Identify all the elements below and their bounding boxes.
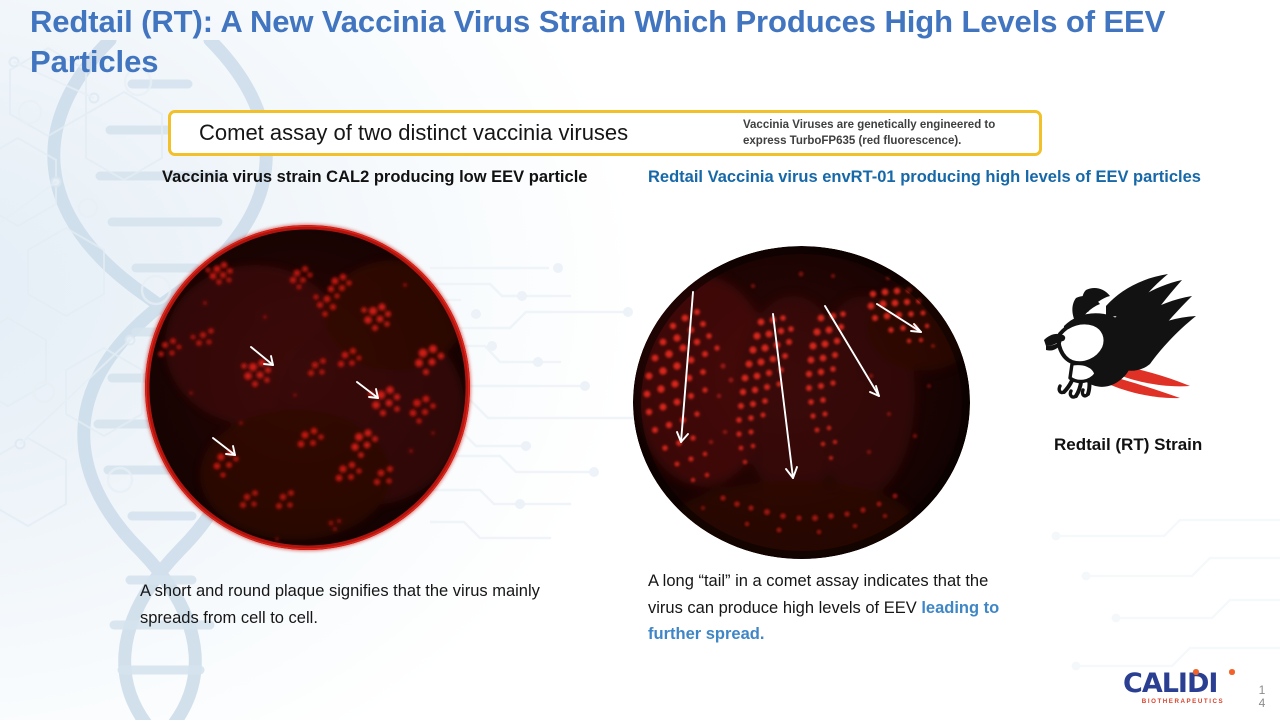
callout-heading: Comet assay of two distinct vaccinia vir… — [199, 120, 628, 146]
calidi-tagline: BIOTHERAPEUTICS — [1123, 698, 1243, 705]
redtail-strain-label: Redtail (RT) Strain — [1054, 432, 1234, 458]
slide-title: Redtail (RT): A New Vaccinia Virus Strai… — [30, 2, 1275, 83]
page-number-digit: 1 — [1252, 684, 1272, 697]
cal2-well-image — [145, 225, 470, 550]
left-panel-heading: Vaccinia virus strain CAL2 producing low… — [162, 165, 587, 191]
right-panel-heading: Redtail Vaccinia virus envRT-01 producin… — [648, 165, 1201, 191]
page-number-digit: 4 — [1252, 697, 1272, 710]
page-number: 14 — [1252, 684, 1272, 710]
micrograph-cal2-comet-assay — [145, 225, 470, 550]
slide-canvas: Redtail (RT): A New Vaccinia Virus Strai… — [0, 0, 1280, 720]
callout-note-text: Vaccinia Viruses are genetically enginee… — [743, 117, 1033, 150]
micrograph-envrt01-comet-assay — [633, 246, 970, 559]
calidi-dot-i1 — [1193, 669, 1199, 675]
comet-assay-callout-box: Comet assay of two distinct vaccinia vir… — [168, 110, 1042, 156]
envrt01-well-image — [633, 246, 970, 559]
calidi-wordmark: CALIDI — [1123, 670, 1243, 697]
calidi-dot-i2 — [1229, 669, 1235, 675]
right-panel-caption: A long “tail” in a comet assay indicates… — [648, 568, 1018, 648]
redtail-hawk-logo — [1030, 272, 1200, 417]
calidi-logo: CALIDI BIOTHERAPEUTICS — [1123, 670, 1243, 712]
calidi-wordmark-text: CALIDI — [1123, 668, 1217, 699]
left-panel-caption: A short and round plaque signifies that … — [140, 578, 540, 631]
